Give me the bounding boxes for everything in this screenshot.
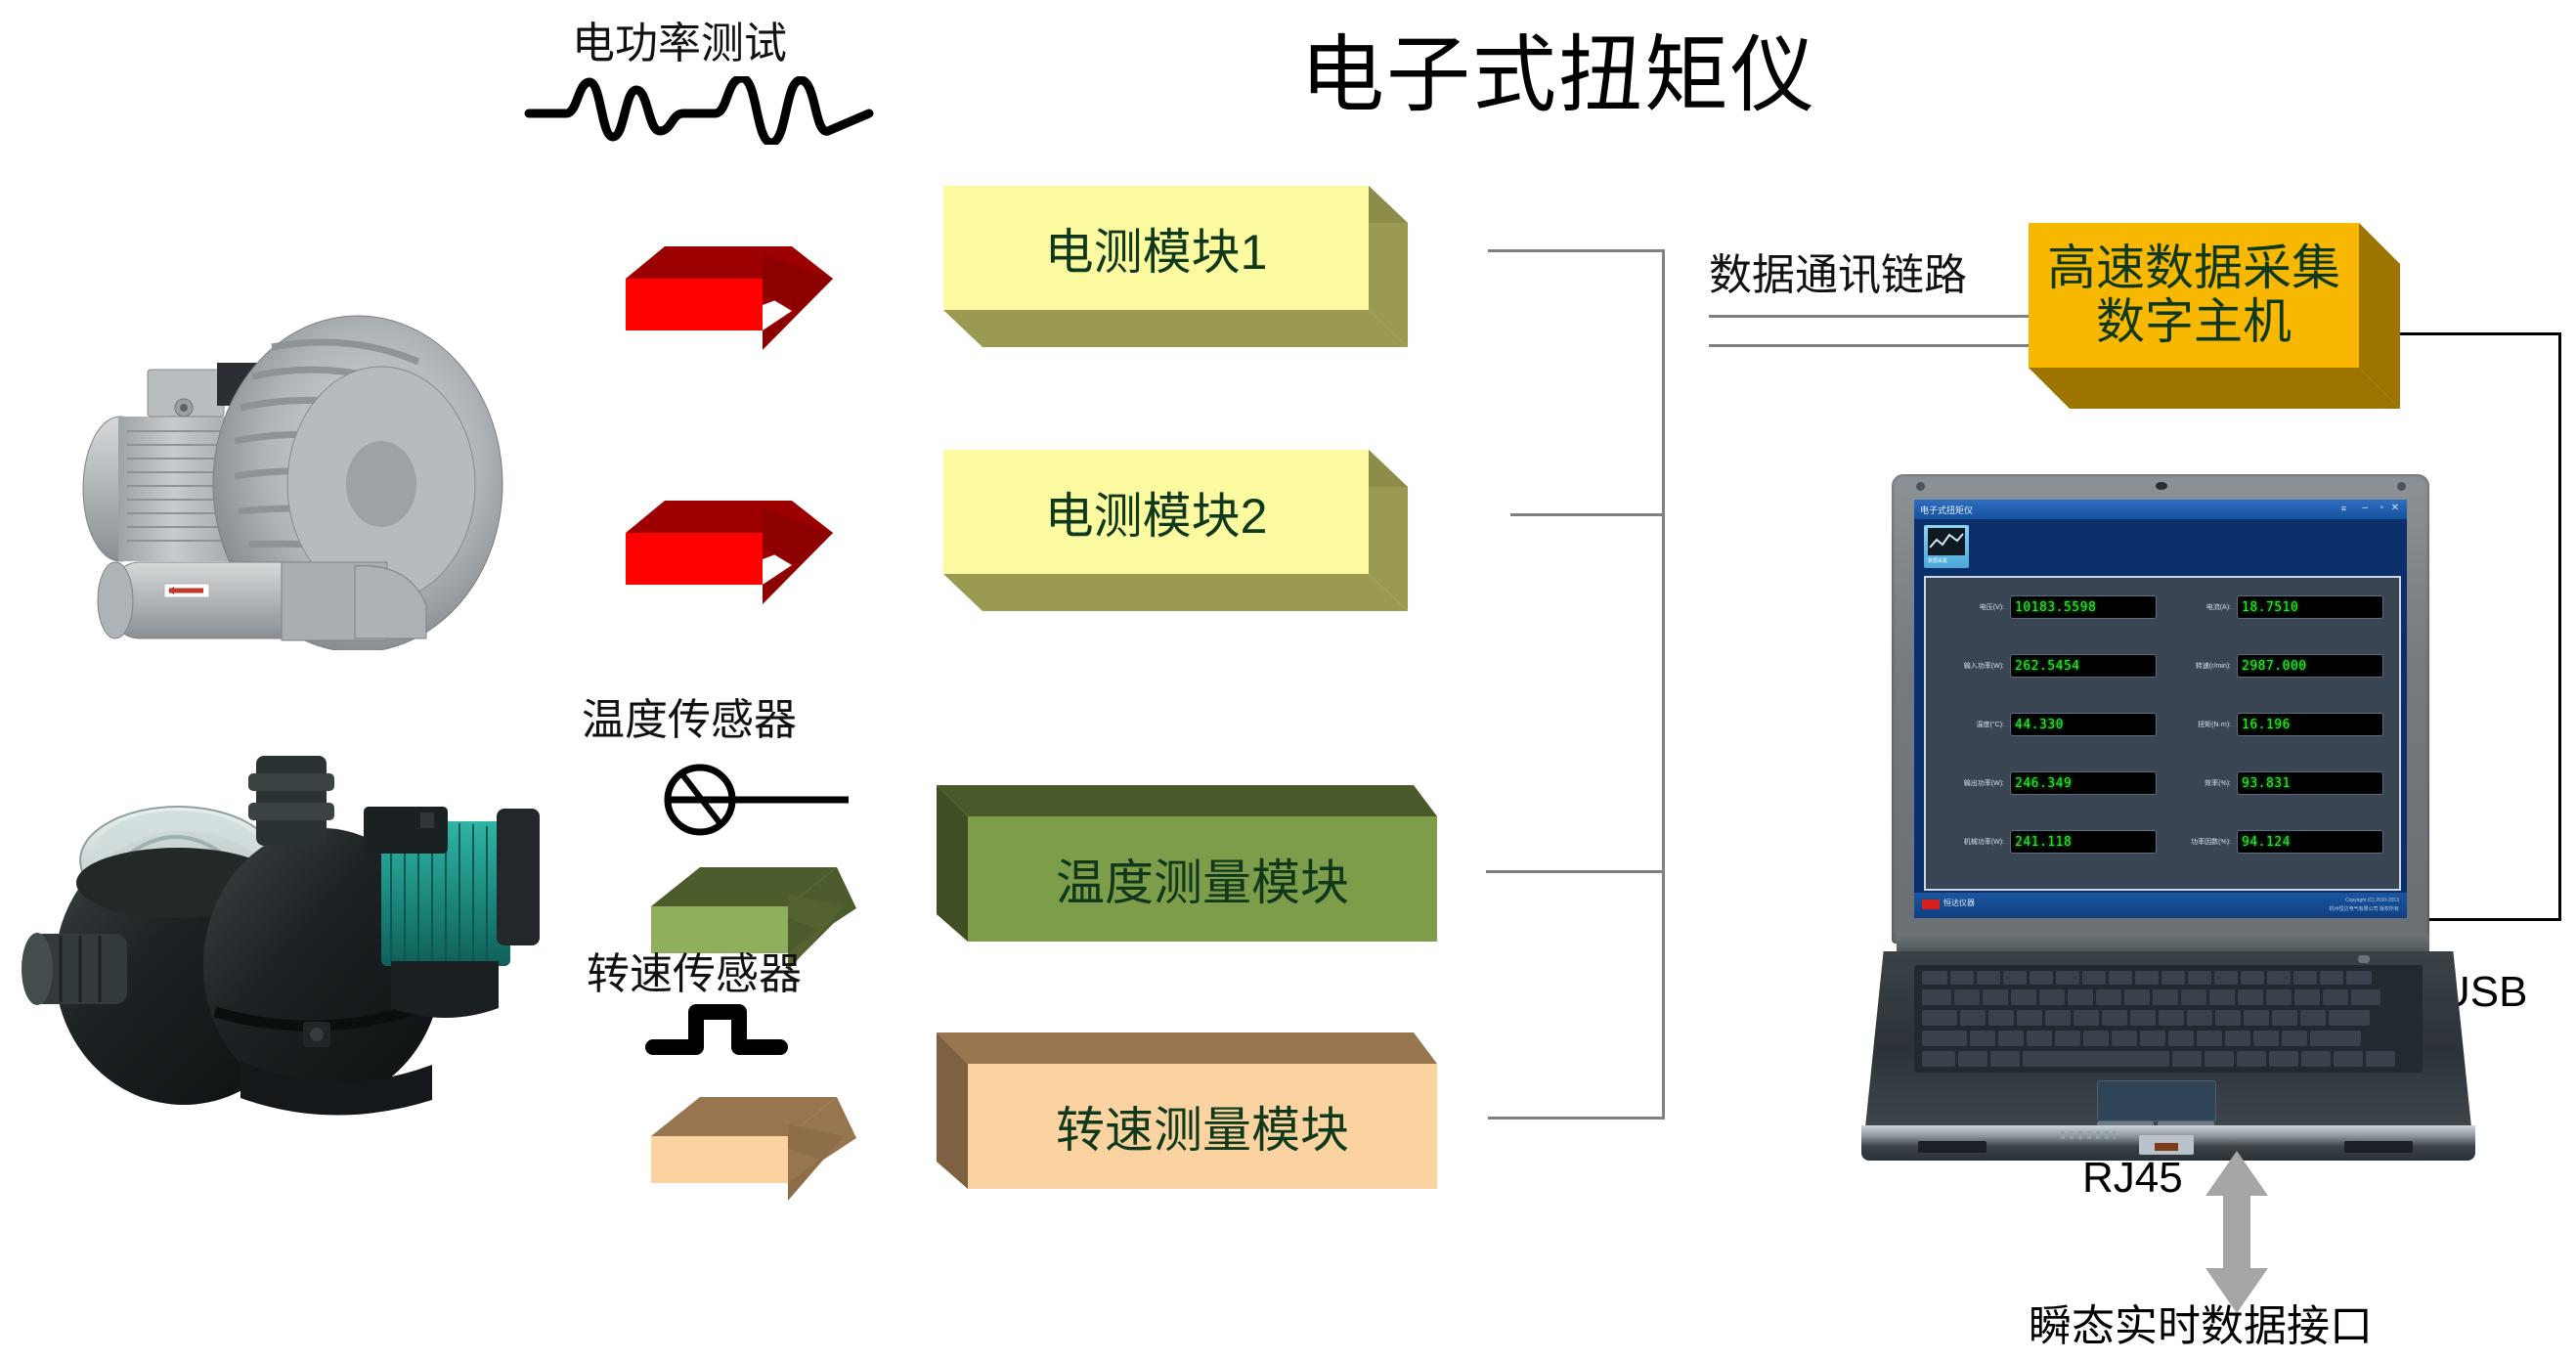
lid-screw-right	[2397, 482, 2406, 491]
readout-label: 机械功率(W):	[1926, 837, 2004, 847]
readout-label: 扭矩(N·m):	[2161, 720, 2231, 729]
electrical-module-2-label: 电测模块2	[1045, 477, 1268, 548]
readout-value: 44.330	[2015, 718, 2064, 732]
readout-value: 246.349	[2015, 776, 2072, 791]
sine-wave-icon	[523, 76, 875, 145]
readout-row-right-0: 电流(A): 18.7510	[2161, 593, 2395, 621]
data-acquisition-host[interactable]: 高速数据采集 数字主机	[2019, 223, 2410, 443]
readout-row-left-1: 输入功率(W): 262.5454	[1926, 652, 2161, 680]
comm-link-line-bottom	[1709, 344, 2041, 347]
readout-row-left-4: 机械功率(W): 241.118	[1926, 828, 2161, 856]
front-latch-led	[2155, 1143, 2178, 1151]
readout-label: 电流(A):	[2161, 602, 2231, 612]
thermocouple-circle-icon	[653, 761, 849, 839]
power-test-label: 电功率测试	[572, 8, 787, 70]
speed-module[interactable]: 转速测量模块	[919, 1025, 1437, 1206]
temperature-module-label: 温度测量模块	[1056, 844, 1349, 914]
bus-line-module-3	[1486, 870, 1664, 873]
power-button[interactable]	[2358, 955, 2370, 963]
speed-arrow-icon	[633, 1066, 858, 1203]
app-menu-label[interactable]: ≡	[2341, 504, 2346, 513]
copyright-line-2: 杭州恒达电气有限公司 版权所有	[2330, 905, 2399, 913]
copyright-line-1: Copyright (C) 2010-2013	[2345, 897, 2399, 904]
temperature-sensor-label: 温度传感器	[582, 684, 797, 747]
page-title: 电子式扭矩仪	[1300, 6, 1816, 128]
electrical-module-1-label: 电测模块1	[1045, 213, 1268, 284]
app-footer: 恒达仪器 Copyright (C) 2010-2013 杭州恒达电气有限公司 …	[1914, 893, 2407, 918]
square-pulse-icon	[645, 1002, 841, 1061]
readout-row-right-4: 功率因数(%): 94.124	[2161, 828, 2395, 856]
measurement-panel: 电压(V): 10183.5598 输入功率(W): 262.5454 温度(°…	[1924, 576, 2401, 891]
laptop-screen[interactable]: 电子式扭矩仪 ≡ – ▫ ✕ 数据采集 电压(V):	[1914, 500, 2407, 918]
readout-row-right-1: 转速(r/min): 2987.000	[2161, 652, 2395, 680]
readout-label: 输出功率(W):	[1926, 778, 2004, 788]
brand-name: 恒达仪器	[1943, 898, 1975, 908]
readout-value: 93.831	[2242, 776, 2291, 791]
comm-link-label: 数据通讯链路	[1709, 240, 1967, 302]
bus-vertical-line	[1662, 249, 1665, 1120]
readout-value: 241.118	[2015, 835, 2072, 850]
laptop-trackpad[interactable]	[2097, 1080, 2216, 1121]
laptop-keyboard[interactable]	[1914, 965, 2423, 1073]
readout-label: 效率(%):	[2161, 778, 2231, 788]
readout-row-left-2: 温度(°C): 44.330	[1926, 711, 2161, 738]
readout-label: 输入功率(W):	[1926, 661, 2004, 671]
readout-label: 转速(r/min):	[2161, 661, 2231, 671]
readout-value: 262.5454	[2015, 659, 2080, 674]
power-arrow-1-icon	[606, 225, 846, 367]
app-title-bar: 电子式扭矩仪 ≡ – ▫ ✕	[1914, 500, 2407, 519]
speaker-vent-left	[1918, 1141, 1987, 1153]
app-toolbar-icon[interactable]: 数据采集	[1924, 525, 1969, 568]
bus-line-module-4	[1488, 1117, 1664, 1120]
readout-row-right-2: 扭矩(N·m): 16.196	[2161, 711, 2395, 738]
host-box-line1: 高速数据采集	[2047, 241, 2340, 295]
host-box-line2: 数字主机	[2096, 295, 2292, 349]
webcam-icon	[2156, 482, 2167, 490]
realtime-interface-label: 瞬态实时数据接口	[2029, 1291, 2373, 1353]
lid-screw-left	[1916, 482, 1925, 491]
maximize-button[interactable]: ▫	[2380, 503, 2383, 513]
brand-logo-icon	[1922, 900, 1940, 909]
temperature-module[interactable]: 温度测量模块	[919, 777, 1437, 958]
minimize-button[interactable]: –	[2362, 503, 2368, 513]
power-arrow-2-icon	[606, 479, 846, 621]
app-window-title: 电子式扭矩仪	[1920, 504, 1973, 516]
laptop-image: 电子式扭矩仪 ≡ – ▫ ✕ 数据采集 电压(V):	[1857, 474, 2542, 1159]
electrical-module-1[interactable]: 电测模块1	[919, 176, 1427, 357]
speed-sensor-label: 转速传感器	[587, 939, 802, 1001]
speaker-vent-right	[2344, 1141, 2413, 1153]
electrical-module-2[interactable]: 电测模块2	[919, 440, 1427, 621]
side-channel-blower-image	[18, 240, 526, 650]
readout-label: 功率因数(%):	[2161, 837, 2231, 847]
diagram-canvas: 电子式扭矩仪	[0, 0, 2576, 1361]
comm-link-line-top	[1709, 315, 2041, 318]
readout-label: 电压(V):	[1926, 602, 2004, 612]
readout-row-left-3: 输出功率(W): 246.349	[1926, 769, 2161, 797]
usb-line-top	[2400, 332, 2561, 335]
rj45-label: RJ45	[2082, 1154, 2183, 1203]
speed-module-label: 转速测量模块	[1056, 1091, 1349, 1162]
close-button[interactable]: ✕	[2391, 503, 2399, 513]
readout-row-left-0: 电压(V): 10183.5598	[1926, 593, 2161, 621]
pool-pump-image	[10, 728, 543, 1129]
bus-line-module-2	[1510, 513, 1664, 516]
readout-value: 2987.000	[2242, 659, 2307, 674]
usb-line-right	[2558, 332, 2561, 921]
readout-label: 温度(°C):	[1926, 720, 2004, 729]
readout-value: 16.196	[2242, 718, 2291, 732]
readout-row-right-3: 效率(%): 93.831	[2161, 769, 2395, 797]
readout-value: 18.7510	[2242, 600, 2298, 615]
bus-line-module-1	[1488, 249, 1664, 252]
readout-value: 10183.5598	[2015, 600, 2096, 615]
front-indicator-lights	[2061, 1131, 2116, 1139]
readout-value: 94.124	[2242, 835, 2291, 850]
